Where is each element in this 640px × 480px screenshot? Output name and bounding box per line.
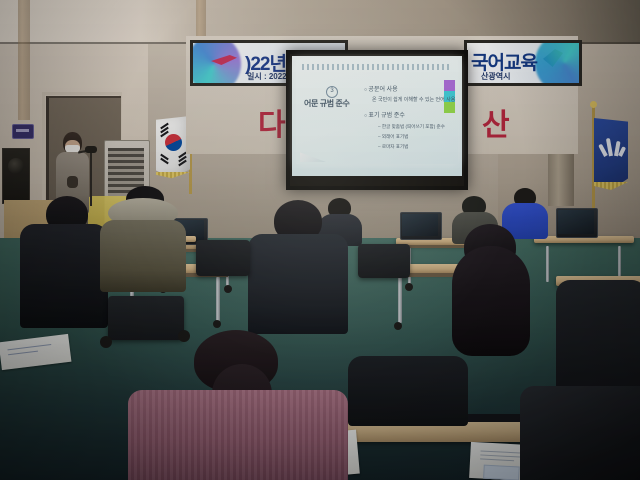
notebook-spiral-icon (302, 64, 450, 70)
chair-caster (100, 336, 112, 348)
slide-subbullet-2: 외래어 표기법 (378, 134, 408, 140)
presenter-hands (67, 176, 78, 188)
flag-fringe-left (156, 172, 190, 181)
chair-caster (178, 330, 190, 342)
room-placard-sign (12, 124, 34, 139)
slide-subbullet-3: 로마자 표기법 (378, 144, 408, 150)
microphone-icon (85, 146, 97, 153)
desk-caster (394, 322, 402, 330)
desk-leg (398, 277, 402, 323)
banner-left-subtitle: 일시 : 2022 (247, 71, 287, 82)
flag-finial-right (590, 101, 597, 108)
laptop[interactable] (556, 208, 596, 236)
attendee-dark-hair-center (248, 200, 348, 330)
banner-wave-graphic (535, 40, 582, 86)
attendee-olive-puffer-hood (100, 186, 186, 290)
desk-caster (213, 320, 221, 328)
attendee-dark-puffer-right (520, 386, 640, 480)
attendee-long-hair-right (436, 224, 546, 374)
slide-note: 온 국민이 쉽게 이해할 수 있는 언어 사용 (372, 96, 455, 103)
banner-red-text-right: 산 (482, 100, 509, 144)
desk-leg (546, 246, 549, 282)
attendee-far-right (556, 280, 640, 390)
wood-pilaster-left (18, 0, 30, 120)
swatch-green (444, 102, 455, 113)
chair-back (108, 296, 184, 340)
pink-knit-sweater (128, 390, 348, 480)
lecture-room-photo: )22년 일시 : 2022 국어교육 산광역시 다 산 3 어문 규범 준수 … (0, 0, 640, 480)
attendee-dark-center-front (348, 356, 468, 426)
slide-bullet-2: 표기 규범 준수 (364, 110, 405, 119)
banner-right-panel: 국어교육 산광역시 (464, 40, 582, 86)
slide-number-badge: 3 (326, 86, 338, 98)
attendee-pink-knit-ponytail (128, 344, 348, 480)
desk-caster (224, 285, 232, 293)
busan-emblem-icon (604, 136, 622, 156)
chair-back (196, 240, 250, 276)
laptop[interactable] (400, 212, 440, 238)
slide-subbullet-1: 한글 맞춤법 (띄어쓰기 포함) 준수 (378, 124, 445, 130)
slide-heading: 어문 규범 준수 (304, 98, 352, 109)
desk-leg (216, 277, 220, 321)
long-hair (452, 246, 530, 356)
banner-red-text-left: 다 (258, 100, 285, 144)
busan-city-flag (586, 112, 632, 208)
slide-bullet-1: 공문어 사용 (364, 84, 398, 93)
swatch-purple (444, 80, 455, 91)
chair-back (358, 244, 410, 278)
banner-swirl-graphic (190, 40, 241, 86)
banner-right-subtitle: 산광역시 (481, 71, 510, 82)
desk-caster (405, 283, 413, 291)
attendee-black-coat-left (20, 196, 108, 326)
flag-fringe-right (594, 182, 628, 192)
taeguk-circle-icon (165, 134, 182, 151)
